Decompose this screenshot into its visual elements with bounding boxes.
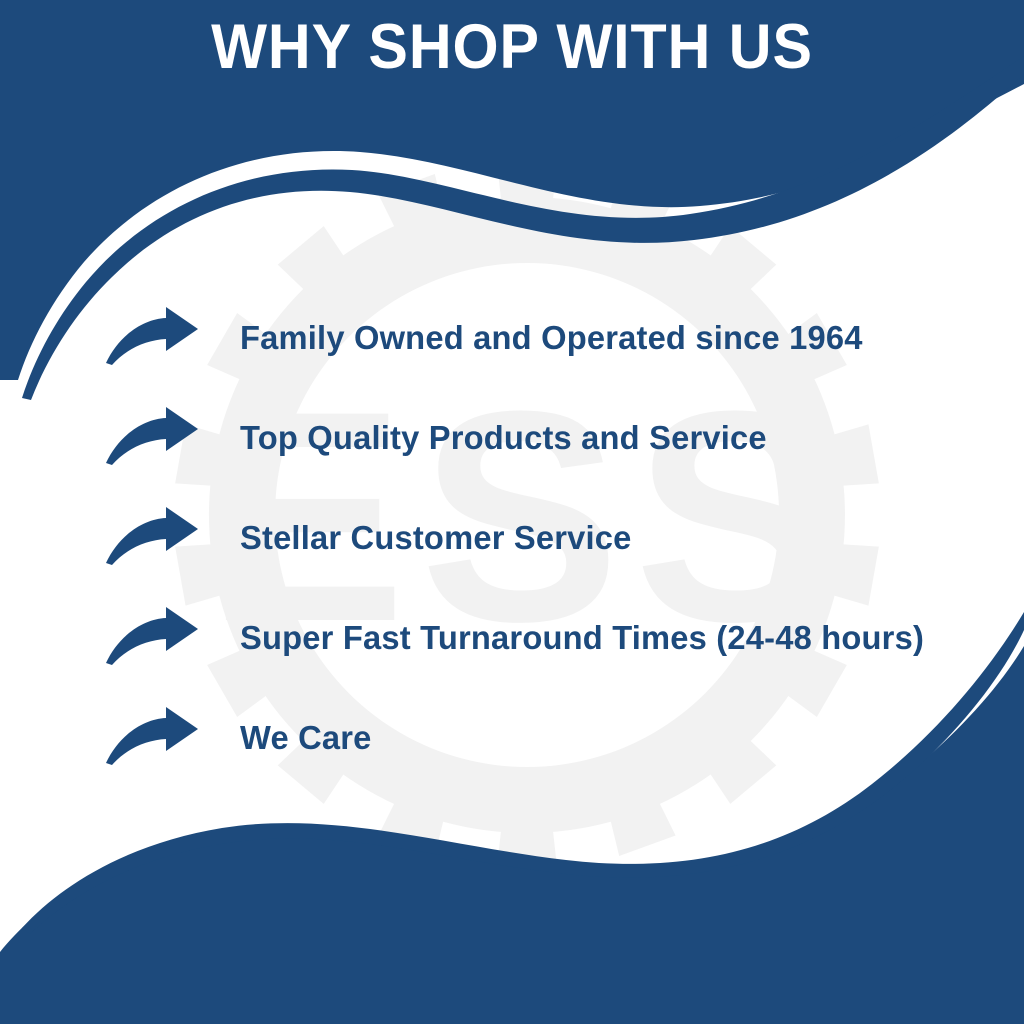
list-item: Super Fast Turnaround Times (24-48 hours… [104, 588, 984, 688]
promo-graphic: ESS WHY SHOP WITH US Family Owned and Op… [0, 0, 1024, 1024]
list-item-label: Stellar Customer Service [240, 519, 977, 557]
curved-arrow-icon [104, 307, 200, 369]
curved-arrow-icon [104, 707, 200, 769]
curved-arrow-icon [104, 507, 200, 569]
list-item: We Care [104, 688, 984, 788]
list-item: Family Owned and Operated since 1964 [104, 288, 984, 388]
list-item-label: Super Fast Turnaround Times (24-48 hours… [240, 619, 977, 657]
list-item-label: We Care [240, 719, 977, 757]
list-item: Stellar Customer Service [104, 488, 984, 588]
curved-arrow-icon [104, 607, 200, 669]
benefits-list: Family Owned and Operated since 1964 Top… [104, 288, 984, 788]
curved-arrow-icon [104, 407, 200, 469]
list-item-label: Family Owned and Operated since 1964 [240, 319, 977, 357]
list-item-label: Top Quality Products and Service [240, 419, 977, 457]
page-title: WHY SHOP WITH US [31, 14, 994, 80]
list-item: Top Quality Products and Service [104, 388, 984, 488]
